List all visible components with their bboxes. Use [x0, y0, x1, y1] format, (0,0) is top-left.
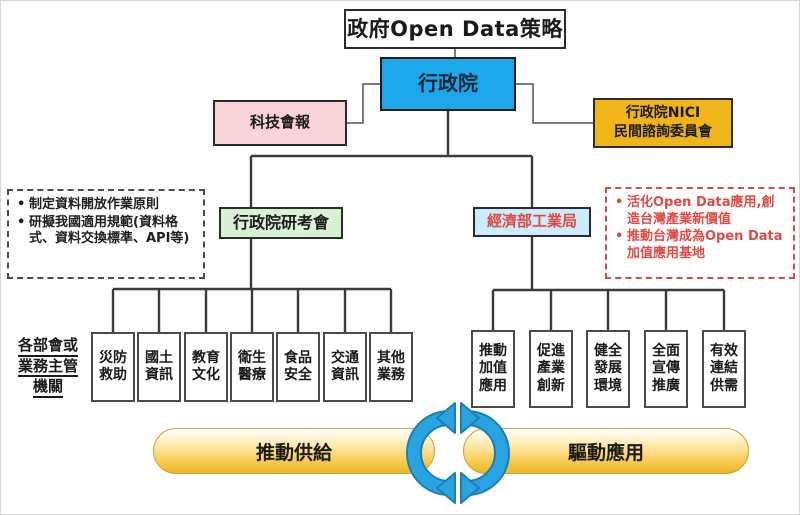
node-science-tech-board[interactable]: 科技會報	[213, 100, 347, 146]
leaf-line2: 資訊	[145, 367, 173, 384]
bar-promote-supply[interactable]: 推動供給	[153, 428, 435, 474]
leaf-line1: 有效	[710, 343, 738, 360]
leaf-line1: 促進	[537, 343, 565, 360]
callout-left-bullet-1: 制定資料開放作業原則	[29, 197, 197, 214]
leaf-line1: 健全	[594, 343, 622, 360]
leaf-line2: 發展	[594, 360, 622, 377]
nici-label-line1: 行政院NICI	[626, 104, 700, 123]
leaf-line1: 國土	[145, 350, 173, 367]
diagram-title: 政府Open Data策略	[344, 9, 566, 49]
callout-right-goals: 活化Open Data應用,創造台灣產業新價值 推動台灣成為Open Data加…	[605, 187, 795, 279]
leaf-health-medical[interactable]: 衛生 醫療	[230, 332, 274, 402]
callout-left-list: 制定資料開放作業原則 研擬我國適用規範(資料格式、資料交換標準、API等)	[9, 191, 203, 248]
nici-label-line2: 民間諮詢委員會	[614, 123, 712, 142]
leaf-line1: 推動	[479, 343, 507, 360]
leaf-education-culture[interactable]: 教育 文化	[184, 332, 228, 402]
leaf-line1: 災防	[99, 350, 127, 367]
ministries-line2: 業務主管	[18, 357, 78, 378]
leaf-sound-environment[interactable]: 健全 發展 環境	[586, 330, 630, 408]
label-ministries-group: 各部會或 業務主管 機關	[5, 331, 91, 403]
leaf-promote-value-added-use[interactable]: 推動 加值 應用	[471, 330, 515, 408]
leaf-line2: 連結	[710, 360, 738, 377]
callout-right-bullet-2: 推動台灣成為Open Data加值應用基地	[627, 229, 787, 262]
callout-right-bullet-1: 活化Open Data應用,創造台灣產業新價值	[627, 195, 787, 228]
leaf-line2: 醫療	[238, 367, 266, 384]
callout-left-bullet-2: 研擬我國適用規範(資料格式、資料交換標準、API等)	[29, 215, 197, 248]
leaf-line1: 其他	[377, 350, 405, 367]
node-executive-yuan[interactable]: 行政院	[380, 57, 516, 111]
node-rdec[interactable]: 行政院研考會	[219, 207, 343, 239]
leaf-line3: 推廣	[652, 378, 680, 395]
leaf-other-affairs[interactable]: 其他 業務	[369, 332, 413, 402]
leaf-line2: 宣傳	[652, 360, 680, 377]
callout-left-principles: 制定資料開放作業原則 研擬我國適用規範(資料格式、資料交換標準、API等)	[7, 189, 205, 279]
leaf-line2: 文化	[192, 367, 220, 384]
leaf-comprehensive-promotion[interactable]: 全面 宣傳 推廣	[644, 330, 688, 408]
leaf-line2: 資訊	[331, 367, 359, 384]
circular-arrows-icon	[397, 399, 519, 507]
leaf-industry-innovation[interactable]: 促進 產業 創新	[529, 330, 573, 408]
leaf-transport-information[interactable]: 交通 資訊	[323, 332, 367, 402]
leaf-line1: 全面	[652, 343, 680, 360]
leaf-line2: 業務	[377, 367, 405, 384]
leaf-line1: 食品	[284, 350, 312, 367]
leaf-line3: 應用	[479, 378, 507, 395]
leaf-line3: 創新	[537, 378, 565, 395]
callout-right-list: 活化Open Data應用,創造台灣產業新價值 推動台灣成為Open Data加…	[607, 189, 793, 263]
leaf-line1: 交通	[331, 350, 359, 367]
ministries-line3: 機關	[33, 377, 63, 398]
diagram-canvas: 政府Open Data策略 行政院 科技會報 行政院NICI 民間諮詢委員會 制…	[0, 0, 800, 515]
ministries-line1: 各部會或	[18, 336, 78, 357]
leaf-line1: 教育	[192, 350, 220, 367]
leaf-line2: 產業	[537, 360, 565, 377]
leaf-supply-demand-linkage[interactable]: 有效 連結 供需	[702, 330, 746, 408]
leaf-land-information[interactable]: 國土 資訊	[137, 332, 181, 402]
leaf-line2: 加值	[479, 360, 507, 377]
leaf-line2: 救助	[99, 367, 127, 384]
node-nici-advisory-committee[interactable]: 行政院NICI 民間諮詢委員會	[593, 98, 733, 148]
leaf-disaster-relief[interactable]: 災防 救助	[91, 332, 135, 402]
leaf-line1: 衛生	[238, 350, 266, 367]
node-industrial-development-bureau[interactable]: 經濟部工業局	[473, 207, 591, 237]
leaf-line3: 供需	[710, 378, 738, 395]
leaf-line3: 環境	[594, 378, 622, 395]
leaf-line2: 安全	[284, 367, 312, 384]
leaf-food-safety[interactable]: 食品 安全	[276, 332, 320, 402]
